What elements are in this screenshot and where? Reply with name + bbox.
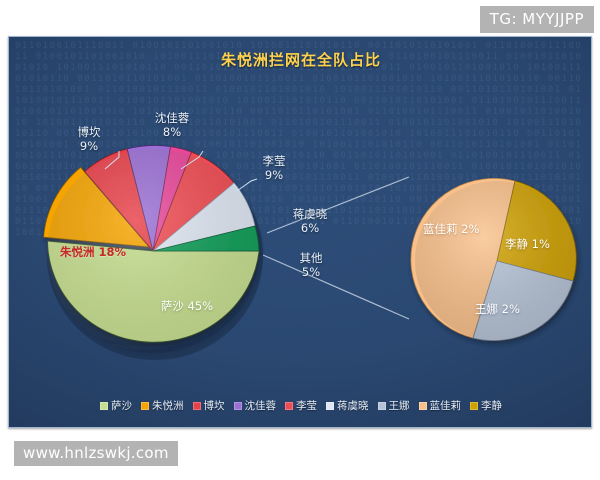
- legend-item[interactable]: 朱悦洲: [141, 398, 184, 413]
- legend-label: 王娜: [389, 398, 410, 413]
- label-bokan-pct: 9%: [61, 139, 117, 153]
- legend-label: 李静: [481, 398, 502, 413]
- legend-label: 蓝佳莉: [430, 398, 462, 413]
- legend-swatch-icon: [419, 402, 427, 410]
- legend-label: 朱悦洲: [152, 398, 184, 413]
- label-zhuyuezhou-pct: 18%: [98, 245, 126, 259]
- legend-swatch-icon: [470, 402, 478, 410]
- tg-watermark-badge: TG: MYYJJPP: [480, 6, 594, 33]
- site-watermark-badge: www.hnlzswkj.com: [14, 441, 178, 466]
- label-shenjiarong-pct: 8%: [144, 125, 200, 139]
- chart-legend: 萨沙朱悦洲博坎沈佳蓉李莹蒋虞晓王娜蓝佳莉李静: [9, 398, 592, 413]
- label-zhuyuezhou-highlighted: 朱悦洲 18%: [53, 245, 133, 259]
- legend-swatch-icon: [100, 402, 108, 410]
- legend-item[interactable]: 博坎: [193, 398, 225, 413]
- label-lijing-pct: 1%: [532, 237, 550, 251]
- label-other: 其他 5%: [291, 251, 331, 279]
- legend-item[interactable]: 萨沙: [100, 398, 132, 413]
- legend-label: 博坎: [204, 398, 225, 413]
- legend-label: 沈佳蓉: [245, 398, 277, 413]
- label-jiangyuxiao-pct: 6%: [281, 221, 339, 235]
- label-liying-pct: 9%: [251, 168, 297, 182]
- label-jiangyuxiao-name: 蒋虞晓: [293, 207, 328, 221]
- secondary-pie-chart: [413, 175, 583, 350]
- legend-item[interactable]: 李静: [470, 398, 502, 413]
- legend-label: 蒋虞晓: [337, 398, 369, 413]
- legend-item[interactable]: 李莹: [285, 398, 317, 413]
- label-wangna-pct: 2%: [502, 302, 520, 316]
- legend-swatch-icon: [326, 402, 334, 410]
- label-zhuyuezhou-name: 朱悦洲: [60, 245, 95, 259]
- label-other-name: 其他: [300, 251, 323, 265]
- legend-swatch-icon: [193, 402, 201, 410]
- label-shenjiarong: 沈佳蓉 8%: [144, 111, 200, 139]
- label-liying: 李莹 9%: [251, 154, 297, 182]
- legend-swatch-icon: [234, 402, 242, 410]
- legend-label: 萨沙: [111, 398, 132, 413]
- chart-panel: 0110100101110011 0100101101001010 101001…: [8, 36, 592, 428]
- label-bokan-name: 博坎: [78, 125, 101, 139]
- label-wangna-name: 王娜: [475, 302, 498, 316]
- label-jiangyuxiao: 蒋虞晓 6%: [281, 207, 339, 235]
- label-liying-name: 李莹: [263, 154, 286, 168]
- label-wangna: 王娜 2%: [475, 302, 519, 316]
- legend-label: 李莹: [296, 398, 317, 413]
- label-sasha-name: 萨沙: [161, 299, 184, 313]
- screenshot-canvas: 0110100101110011 0100101101001010 101001…: [0, 0, 600, 480]
- label-sasha: 萨沙 45%: [157, 299, 217, 313]
- label-lanjiali-name: 蓝佳莉: [423, 222, 458, 236]
- legend-item[interactable]: 蒋虞晓: [326, 398, 369, 413]
- legend-item[interactable]: 沈佳蓉: [234, 398, 277, 413]
- legend-item[interactable]: 王娜: [378, 398, 410, 413]
- label-lijing: 李静 1%: [505, 237, 545, 251]
- legend-swatch-icon: [285, 402, 293, 410]
- label-lanjiali-pct: 2%: [461, 222, 479, 236]
- label-lanjiali: 蓝佳莉 2%: [423, 222, 479, 236]
- label-other-pct: 5%: [291, 265, 331, 279]
- legend-swatch-icon: [378, 402, 386, 410]
- label-sasha-pct: 45%: [188, 299, 214, 313]
- label-bokan: 博坎 9%: [61, 125, 117, 153]
- label-shenjiarong-name: 沈佳蓉: [155, 111, 190, 125]
- legend-item[interactable]: 蓝佳莉: [419, 398, 462, 413]
- label-lijing-name: 李静: [505, 237, 528, 251]
- legend-swatch-icon: [141, 402, 149, 410]
